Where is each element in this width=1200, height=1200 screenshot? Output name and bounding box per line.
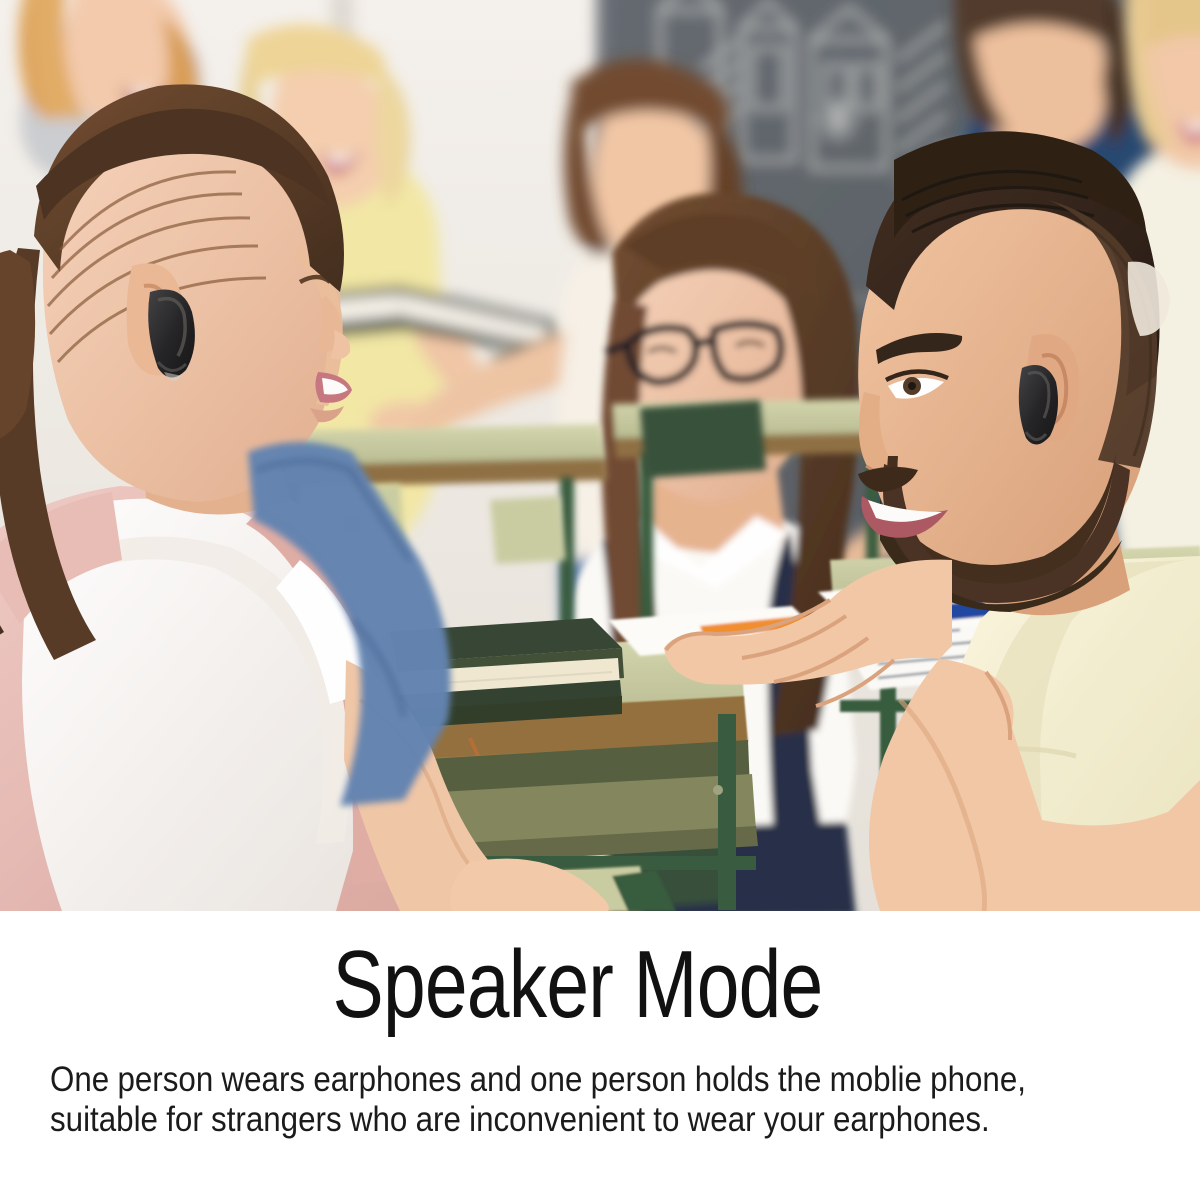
hero-photo	[0, 0, 1200, 911]
product-feature-page: Speaker Mode One person wears earphones …	[0, 0, 1200, 1200]
caption-block: Speaker Mode One person wears earphones …	[0, 911, 1200, 1200]
caption-description: One person wears earphones and one perso…	[50, 1060, 1045, 1140]
page-title: Speaker Mode	[116, 937, 1040, 1033]
classroom-scene-illustration	[0, 0, 1200, 911]
